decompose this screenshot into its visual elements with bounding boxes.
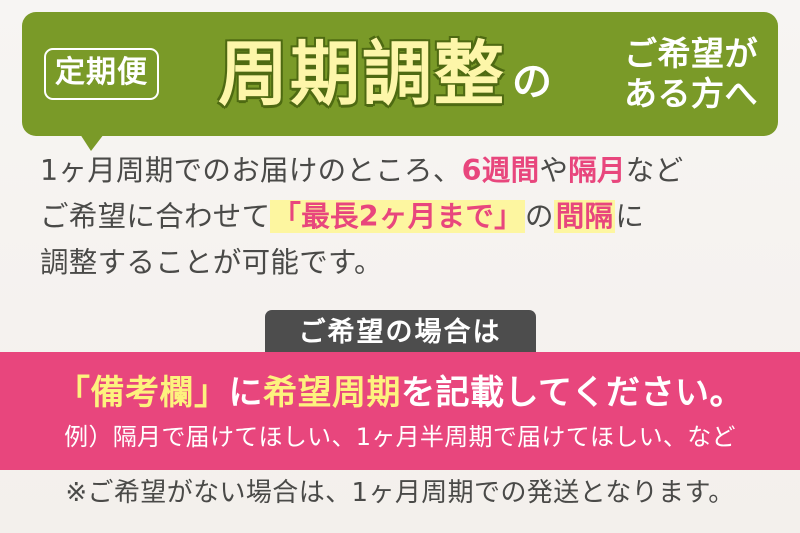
- body-line1-highlight-6weeks: 6週間: [462, 154, 540, 187]
- body-line1-text-a: 1ヶ月周期でのお届けのところ、: [40, 154, 462, 187]
- banner-subheadline-line1: ご希望が: [624, 34, 758, 74]
- body-copy-line-3: 調整することが可能です。: [40, 240, 770, 286]
- body-line1-text-c: など: [626, 154, 684, 187]
- body-line1-text-b: や: [539, 154, 568, 187]
- banner-subheadline-line2: ある方へ: [624, 74, 758, 114]
- banner-subheadline: ご希望が ある方へ: [624, 34, 758, 115]
- pink-main-remarks-field: 「備考欄」: [56, 373, 229, 413]
- request-tag-wrapper: ご希望の場合は: [0, 310, 800, 355]
- body-line2-text-a: ご希望に合わせて: [40, 200, 270, 233]
- pink-instruction-example: 例）隔月で届けてほしい、1ヶ月半周期で届けてほしい、など: [64, 423, 736, 452]
- body-copy: 1ヶ月周期でのお届けのところ、6週間や隔月など ご希望に合わせて「最長2ヶ月まで…: [40, 148, 770, 286]
- pink-instruction-band: 「備考欄」に希望周期を記載してください。 例）隔月で届けてほしい、1ヶ月半周期で…: [0, 352, 800, 470]
- body-line1-highlight-bimonthly: 隔月: [568, 154, 626, 187]
- request-tag-label: ご希望の場合は: [265, 310, 536, 355]
- pink-main-text-b: に: [229, 373, 264, 413]
- pink-main-desired-cycle: 希望周期: [263, 373, 401, 413]
- body-line2-text-c: に: [615, 200, 644, 233]
- pink-main-text-d: を記載してください。: [401, 373, 744, 413]
- promo-banner-page: 定期便 周期調整 の ご希望が ある方へ 1ヶ月周期でのお届けのところ、6週間や…: [0, 0, 800, 533]
- footnote-text: ※ご希望がない場合は、1ヶ月周期での発送となります。: [0, 478, 800, 509]
- banner-headline-suffix: の: [512, 62, 552, 102]
- banner-headline: 周期調整: [218, 39, 506, 109]
- body-copy-line-2: ご希望に合わせて「最長2ヶ月まで」の間隔に: [40, 194, 770, 240]
- body-line2-highlight-interval: 間隔: [554, 200, 616, 233]
- body-copy-line-1: 1ヶ月周期でのお届けのところ、6週間や隔月など: [40, 148, 770, 194]
- body-line2-highlight-maxtwomonths: 「最長2ヶ月まで」: [270, 200, 525, 233]
- banner-headline-group: 周期調整 の: [218, 39, 552, 109]
- pink-instruction-main: 「備考欄」に希望周期を記載してください。: [56, 374, 744, 413]
- subscription-badge: 定期便: [44, 48, 159, 100]
- header-banner-body: 定期便 周期調整 の ご希望が ある方へ: [22, 12, 778, 136]
- body-line2-text-b: の: [525, 200, 554, 233]
- header-banner: 定期便 周期調整 の ご希望が ある方へ: [22, 12, 778, 136]
